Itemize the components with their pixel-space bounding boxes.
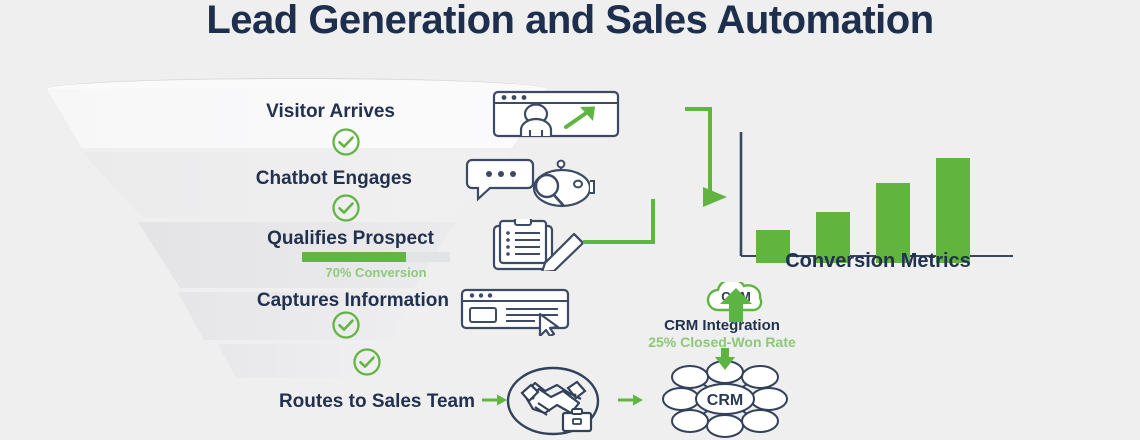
conversion-progress-fill — [302, 252, 406, 262]
chart-title: Conversion Metrics — [728, 250, 1028, 273]
conversion-metrics-chart: Conversion Metrics — [728, 120, 1028, 285]
conversion-metric: 70% Conversion — [302, 252, 450, 280]
check-icon-final-stage — [352, 347, 382, 377]
chart-bar-4 — [936, 158, 970, 263]
funnel-stage-label-visitor-arrives: Visitor Arrives — [266, 101, 395, 123]
arrow-down-icon — [714, 348, 736, 370]
crm-hub-label: CRM — [707, 392, 743, 409]
conversion-progress-label: 70% Conversion — [302, 265, 450, 280]
funnel-stage-label-chatbot-engages: Chatbot Engages — [256, 168, 412, 190]
funnel-outcome-label: Routes to Sales Team — [279, 391, 475, 413]
check-icon-visitor-arrives — [331, 127, 361, 157]
infographic-canvas: Lead Generation and Sales Automation — [0, 0, 1140, 440]
arrow-right-icon-2 — [618, 392, 644, 408]
check-icon-chatbot-engages — [331, 193, 361, 223]
crm-network-icon: CRM — [650, 358, 800, 440]
conversion-progress-track — [302, 252, 450, 262]
handshake-icon — [505, 365, 601, 437]
funnel-stage-label-qualifies-prospect: Qualifies Prospect — [267, 228, 434, 250]
check-icon-captures-information — [331, 310, 361, 340]
crm-integration-title: CRM Integration — [636, 317, 808, 334]
funnel-stage-label-captures-information: Captures Information — [257, 290, 449, 312]
form-capture-icon — [460, 288, 578, 336]
